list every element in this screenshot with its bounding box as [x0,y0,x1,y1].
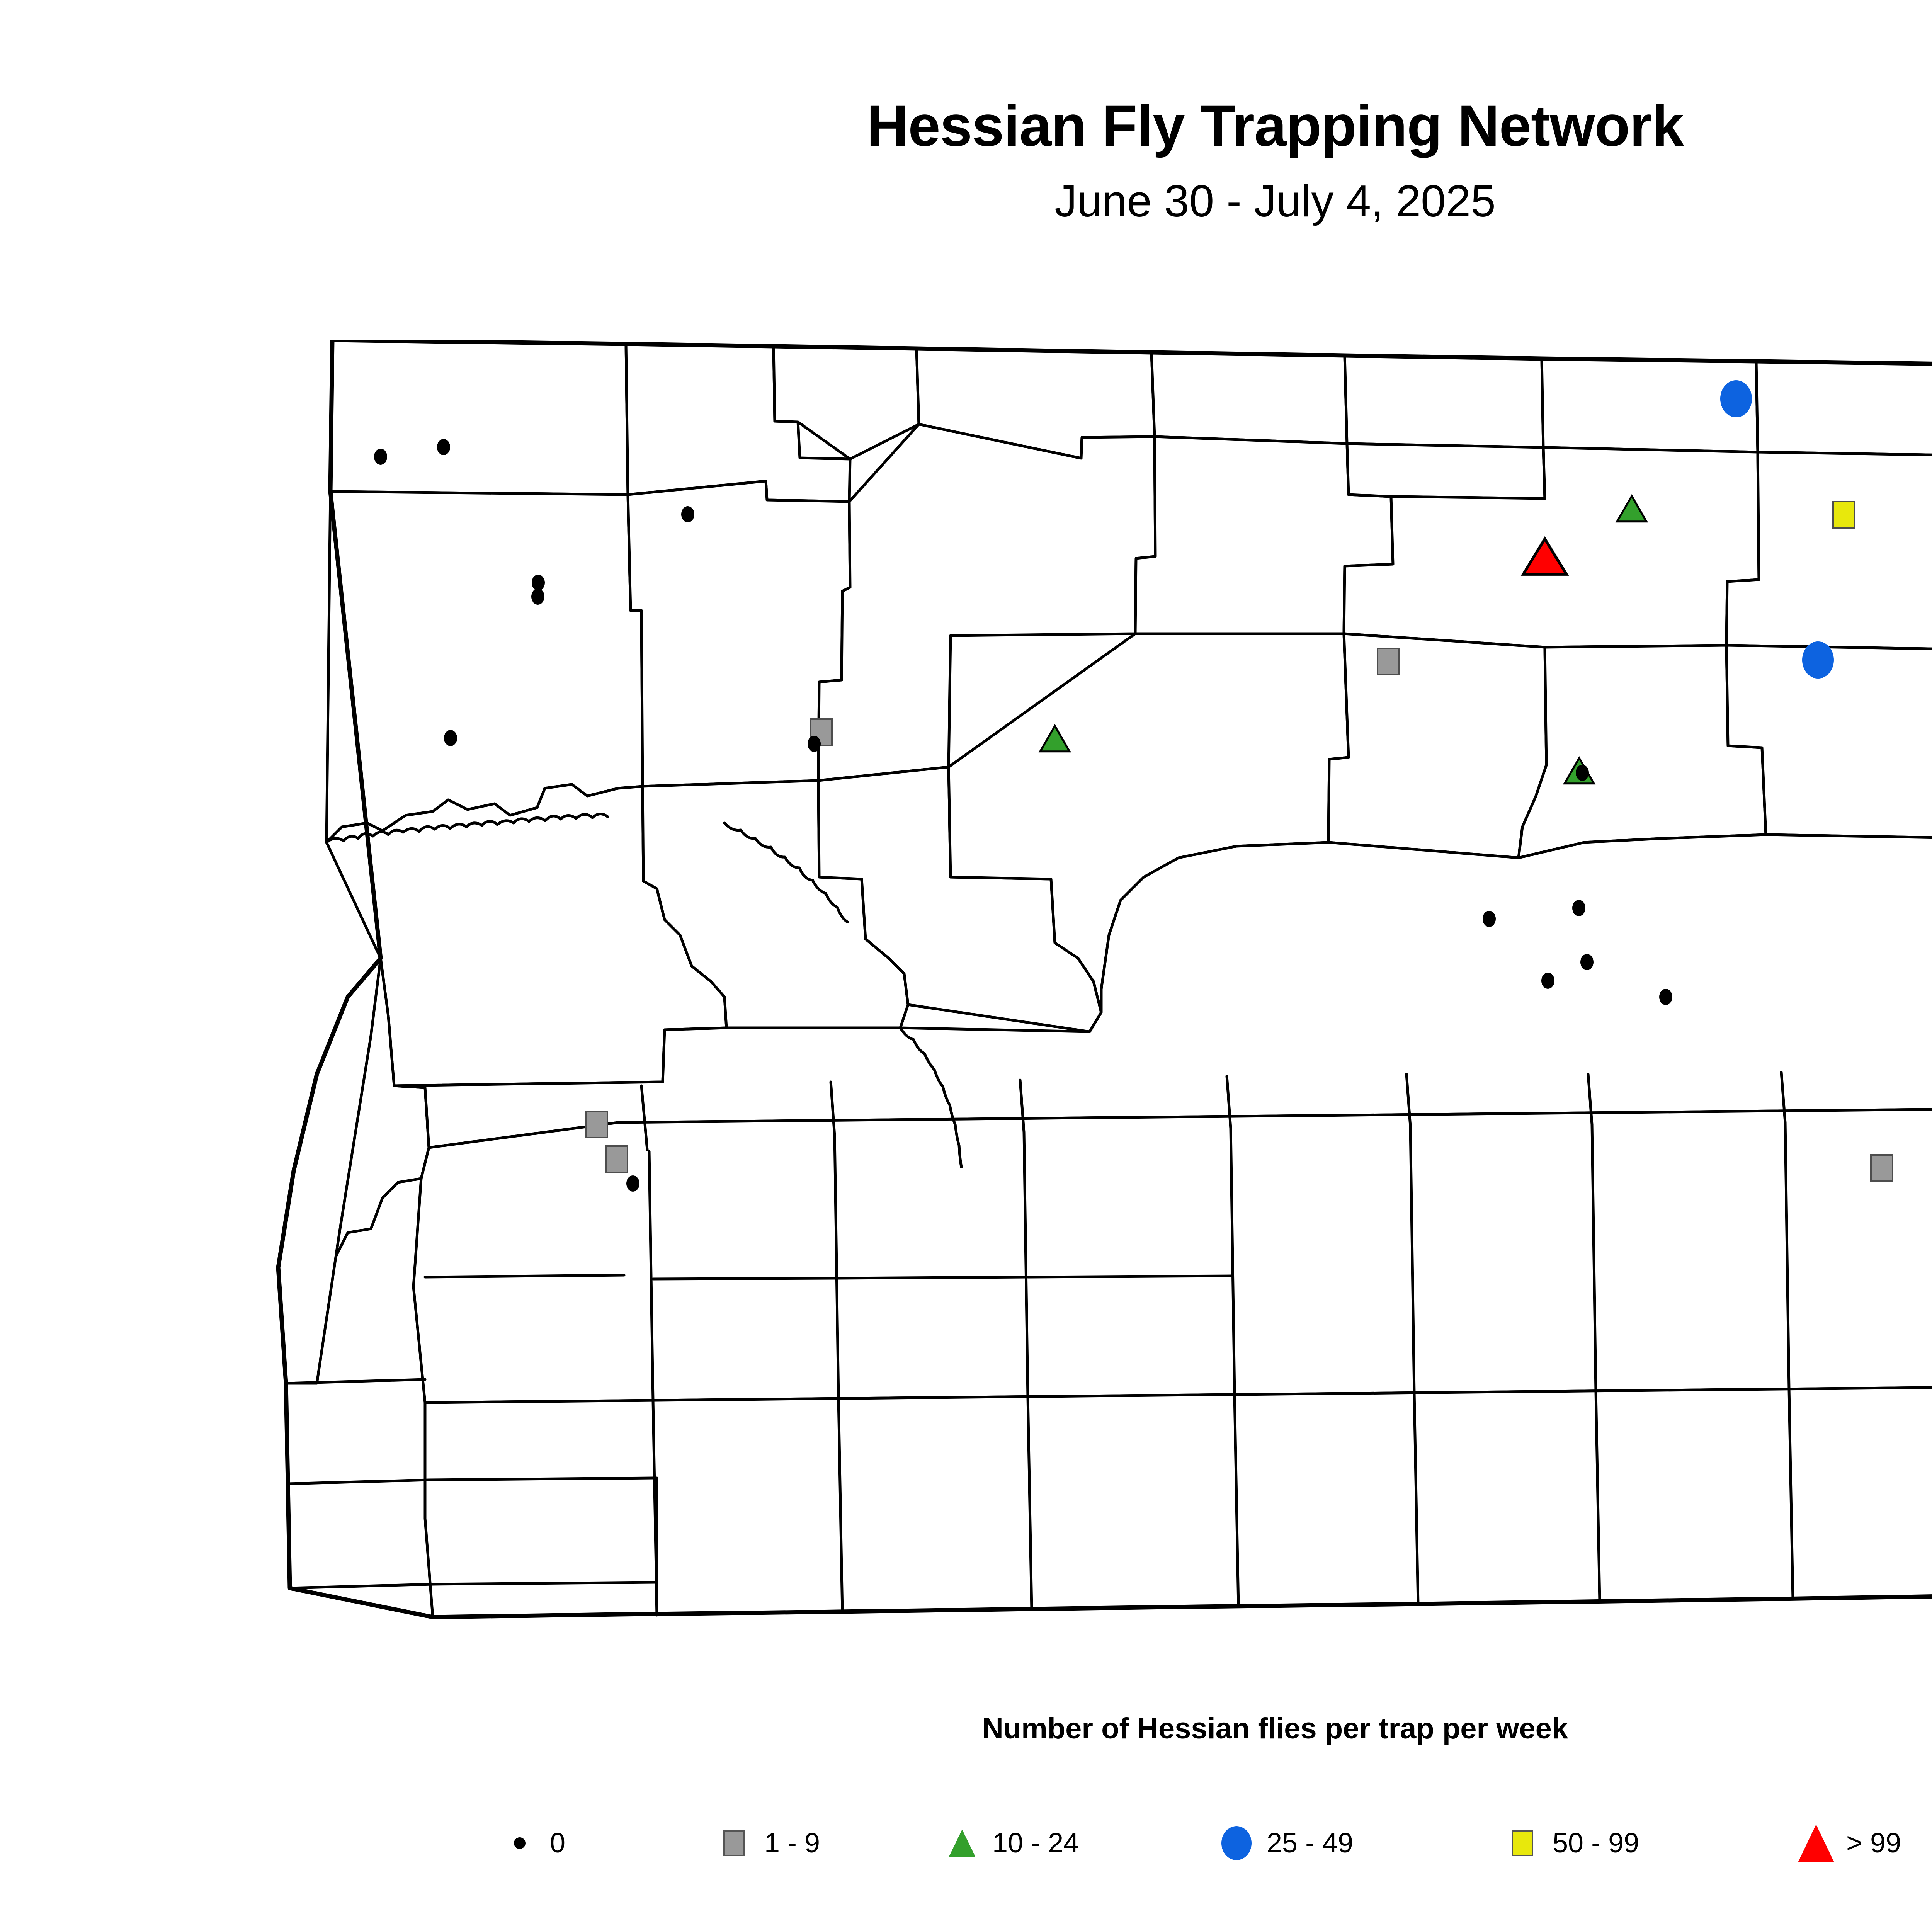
legend-swatch-triangle-icon [939,1830,985,1857]
county-boundaries [278,340,1932,1617]
legend-glyph-circle-icon [1221,1826,1252,1860]
north-dakota-map [0,340,1932,1662]
trap-site-marker-square[interactable] [1833,502,1855,528]
trap-site-marker-dot[interactable] [531,588,544,605]
legend-item-label: > 99 [1846,1827,1901,1859]
legend-item-0[interactable]: 0 [497,1812,565,1874]
date-range-subtitle: June 30 - July 4, 2025 [0,179,1932,223]
trap-site-marker-square[interactable] [1378,648,1399,675]
legend-item-label: 1 - 9 [764,1827,820,1859]
trap-site-marker-dot[interactable] [532,575,545,591]
legend-swatch-triangle-icon [1793,1825,1839,1862]
trap-site-marker-dot[interactable] [1580,954,1594,970]
trap-site-marker-dot[interactable] [1541,973,1554,989]
legend-swatch-dot-icon [497,1837,543,1849]
map-page: Hessian Fly Trapping Network June 30 - J… [0,0,1932,1932]
trap-site-marker-dot[interactable] [444,730,457,746]
trap-site-marker-dot[interactable] [1659,989,1672,1005]
map-svg [0,340,1932,1662]
legend-item-label: 25 - 49 [1267,1827,1353,1859]
trap-site-marker-square[interactable] [606,1146,628,1172]
trap-site-marker-square[interactable] [1871,1155,1893,1181]
trap-site-marker-dot[interactable] [626,1175,639,1192]
page-title: Hessian Fly Trapping Network [0,97,1932,155]
trap-site-marker-dot[interactable] [1483,911,1496,927]
legend-glyph-triangle-icon [949,1830,975,1857]
legend-item-25-49[interactable]: 25 - 49 [1213,1812,1353,1874]
legend-glyph-dot-icon [514,1837,526,1849]
legend-item-50-99[interactable]: 50 - 99 [1499,1812,1639,1874]
trap-site-marker-square[interactable] [586,1111,607,1138]
trap-site-marker-dot[interactable] [808,736,821,752]
legend-glyph-square-icon [1512,1830,1533,1856]
legend-glyph-triangle-icon [1798,1825,1834,1862]
trap-site-marker-circle[interactable] [1802,641,1834,679]
legend-swatch-square-icon [1499,1830,1546,1856]
title-block: Hessian Fly Trapping Network June 30 - J… [0,97,1932,223]
trap-site-marker-dot[interactable] [437,439,450,455]
legend-item-label: 50 - 99 [1553,1827,1639,1859]
legend-swatch-square-icon [711,1830,757,1856]
legend-item-1-9[interactable]: 1 - 9 [711,1812,820,1874]
trap-site-marker-dot[interactable] [374,449,387,465]
trap-site-marker-circle[interactable] [1720,380,1752,417]
legend-title: Number of Hessian flies per trap per wee… [0,1712,1932,1745]
trap-site-marker-dot[interactable] [681,506,694,522]
legend-item-10-24[interactable]: 10 - 24 [939,1812,1079,1874]
legend-swatch-circle-icon [1213,1826,1260,1860]
trap-site-marker-dot[interactable] [1572,900,1585,916]
legend-item--99[interactable]: > 99 [1793,1812,1901,1874]
legend-item-label: 10 - 24 [992,1827,1079,1859]
legend-row: 01 - 910 - 2425 - 4950 - 99> 99 [0,1812,1932,1874]
legend-glyph-square-icon [723,1830,745,1856]
trap-site-marker-dot[interactable] [1576,765,1589,781]
legend-item-label: 0 [550,1827,565,1859]
